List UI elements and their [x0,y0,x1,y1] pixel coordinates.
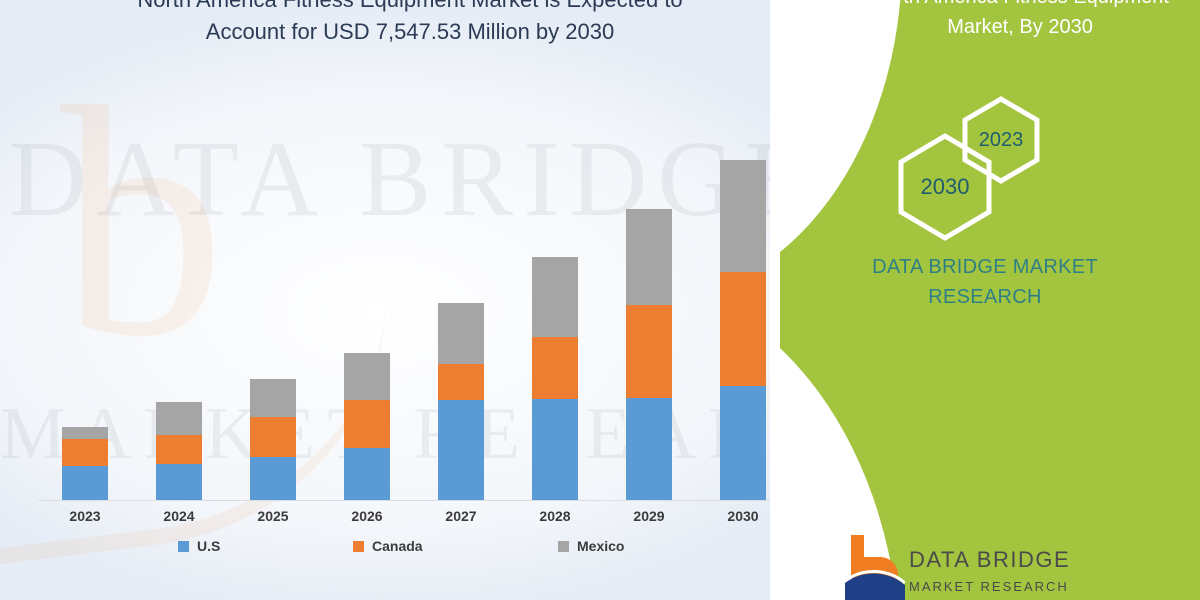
chart-panel: b DATA BRIDGE MARKET RESEARCH North Amer… [0,0,830,600]
x-axis-label-2029: 2029 [603,508,695,524]
logo-title: DATA BRIDGE [909,547,1070,573]
legend-swatch-icon [178,541,189,552]
bar-segment-mexico-2029 [626,209,672,305]
bar-segment-canada-2028 [532,337,578,399]
data-bridge-logo-mark-icon [845,533,905,600]
bar-segment-us-2029 [626,398,672,500]
bar-2026 [344,353,390,500]
x-axis-baseline [38,500,790,501]
bar-2027 [438,303,484,500]
x-axis-label-2026: 2026 [321,508,413,524]
bar-2028 [532,257,578,500]
bar-segment-mexico-2023 [62,427,108,439]
bar-segment-canada-2023 [62,439,108,466]
x-axis-label-2024: 2024 [133,508,225,524]
logo-subtitle: MARKET RESEARCH [909,579,1070,594]
legend-item-canada[interactable]: Canada [353,538,423,554]
green-panel-title-line-1: North America Fitness Equipment [870,0,1170,12]
hexagon-badge-2030-label: 2030 [921,174,970,200]
legend-item-us[interactable]: U.S [178,538,220,554]
x-axis-label-2027: 2027 [415,508,507,524]
hexagon-badge-2023: 2023 [960,95,1042,185]
bar-segment-us-2027 [438,400,484,500]
legend-label: U.S [197,538,220,554]
chart-title-line-2: Account for USD 7,547.53 Million by 2030 [60,16,760,48]
legend-label: Mexico [577,538,624,554]
x-axis-label-2023: 2023 [39,508,131,524]
hexagon-badge-2023-label: 2023 [979,129,1024,152]
legend-item-mexico[interactable]: Mexico [558,538,624,554]
bar-segment-us-2030 [720,386,766,500]
bar-segment-canada-2026 [344,400,390,448]
legend-swatch-icon [558,541,569,552]
bar-segment-mexico-2024 [156,402,202,435]
bar-segment-us-2028 [532,399,578,500]
x-axis-label-2025: 2025 [227,508,319,524]
bar-segment-canada-2027 [438,364,484,400]
data-bridge-logo-text: DATA BRIDGE MARKET RESEARCH [909,547,1070,594]
x-axis-label-2028: 2028 [509,508,601,524]
bar-2025 [250,379,296,500]
bar-segment-mexico-2028 [532,257,578,337]
bar-segment-canada-2029 [626,305,672,398]
bar-segment-canada-2024 [156,435,202,464]
data-bridge-logo: DATA BRIDGE MARKET RESEARCH [845,533,1085,600]
bar-segment-canada-2025 [250,417,296,457]
bar-2024 [156,402,202,500]
chart-title: North America Fitness Equipment Market i… [60,0,760,48]
chart-title-line-1: North America Fitness Equipment Market i… [60,0,760,16]
chart-legend: U.SCanadaMexico [38,538,758,564]
legend-swatch-icon [353,541,364,552]
bar-2029 [626,209,672,500]
green-side-panel: North America Fitness Equipment Market, … [770,0,1200,600]
bar-segment-mexico-2026 [344,353,390,400]
bar-segment-mexico-2030 [720,160,766,272]
bar-segment-us-2025 [250,457,296,500]
x-axis-tick-labels: 20232024202520262027202820292030 [38,508,790,530]
legend-label: Canada [372,538,423,554]
green-panel-brand-line-2: RESEARCH [830,282,1140,312]
bar-2030 [720,160,766,500]
green-panel-brand-line-1: DATA BRIDGE MARKET [830,252,1140,282]
bar-2023 [62,427,108,500]
green-panel-title-line-2: Market, By 2030 [870,12,1170,42]
bar-segment-canada-2030 [720,272,766,386]
green-panel-brand: DATA BRIDGE MARKET RESEARCH [830,252,1140,312]
plot-area [38,150,790,501]
bar-segment-mexico-2025 [250,379,296,417]
bar-segment-us-2026 [344,448,390,500]
green-panel-title: North America Fitness Equipment Market, … [870,0,1170,42]
bar-segment-us-2024 [156,464,202,500]
bar-segment-mexico-2027 [438,303,484,364]
logo-divider [909,575,1061,577]
bar-segment-us-2023 [62,466,108,500]
